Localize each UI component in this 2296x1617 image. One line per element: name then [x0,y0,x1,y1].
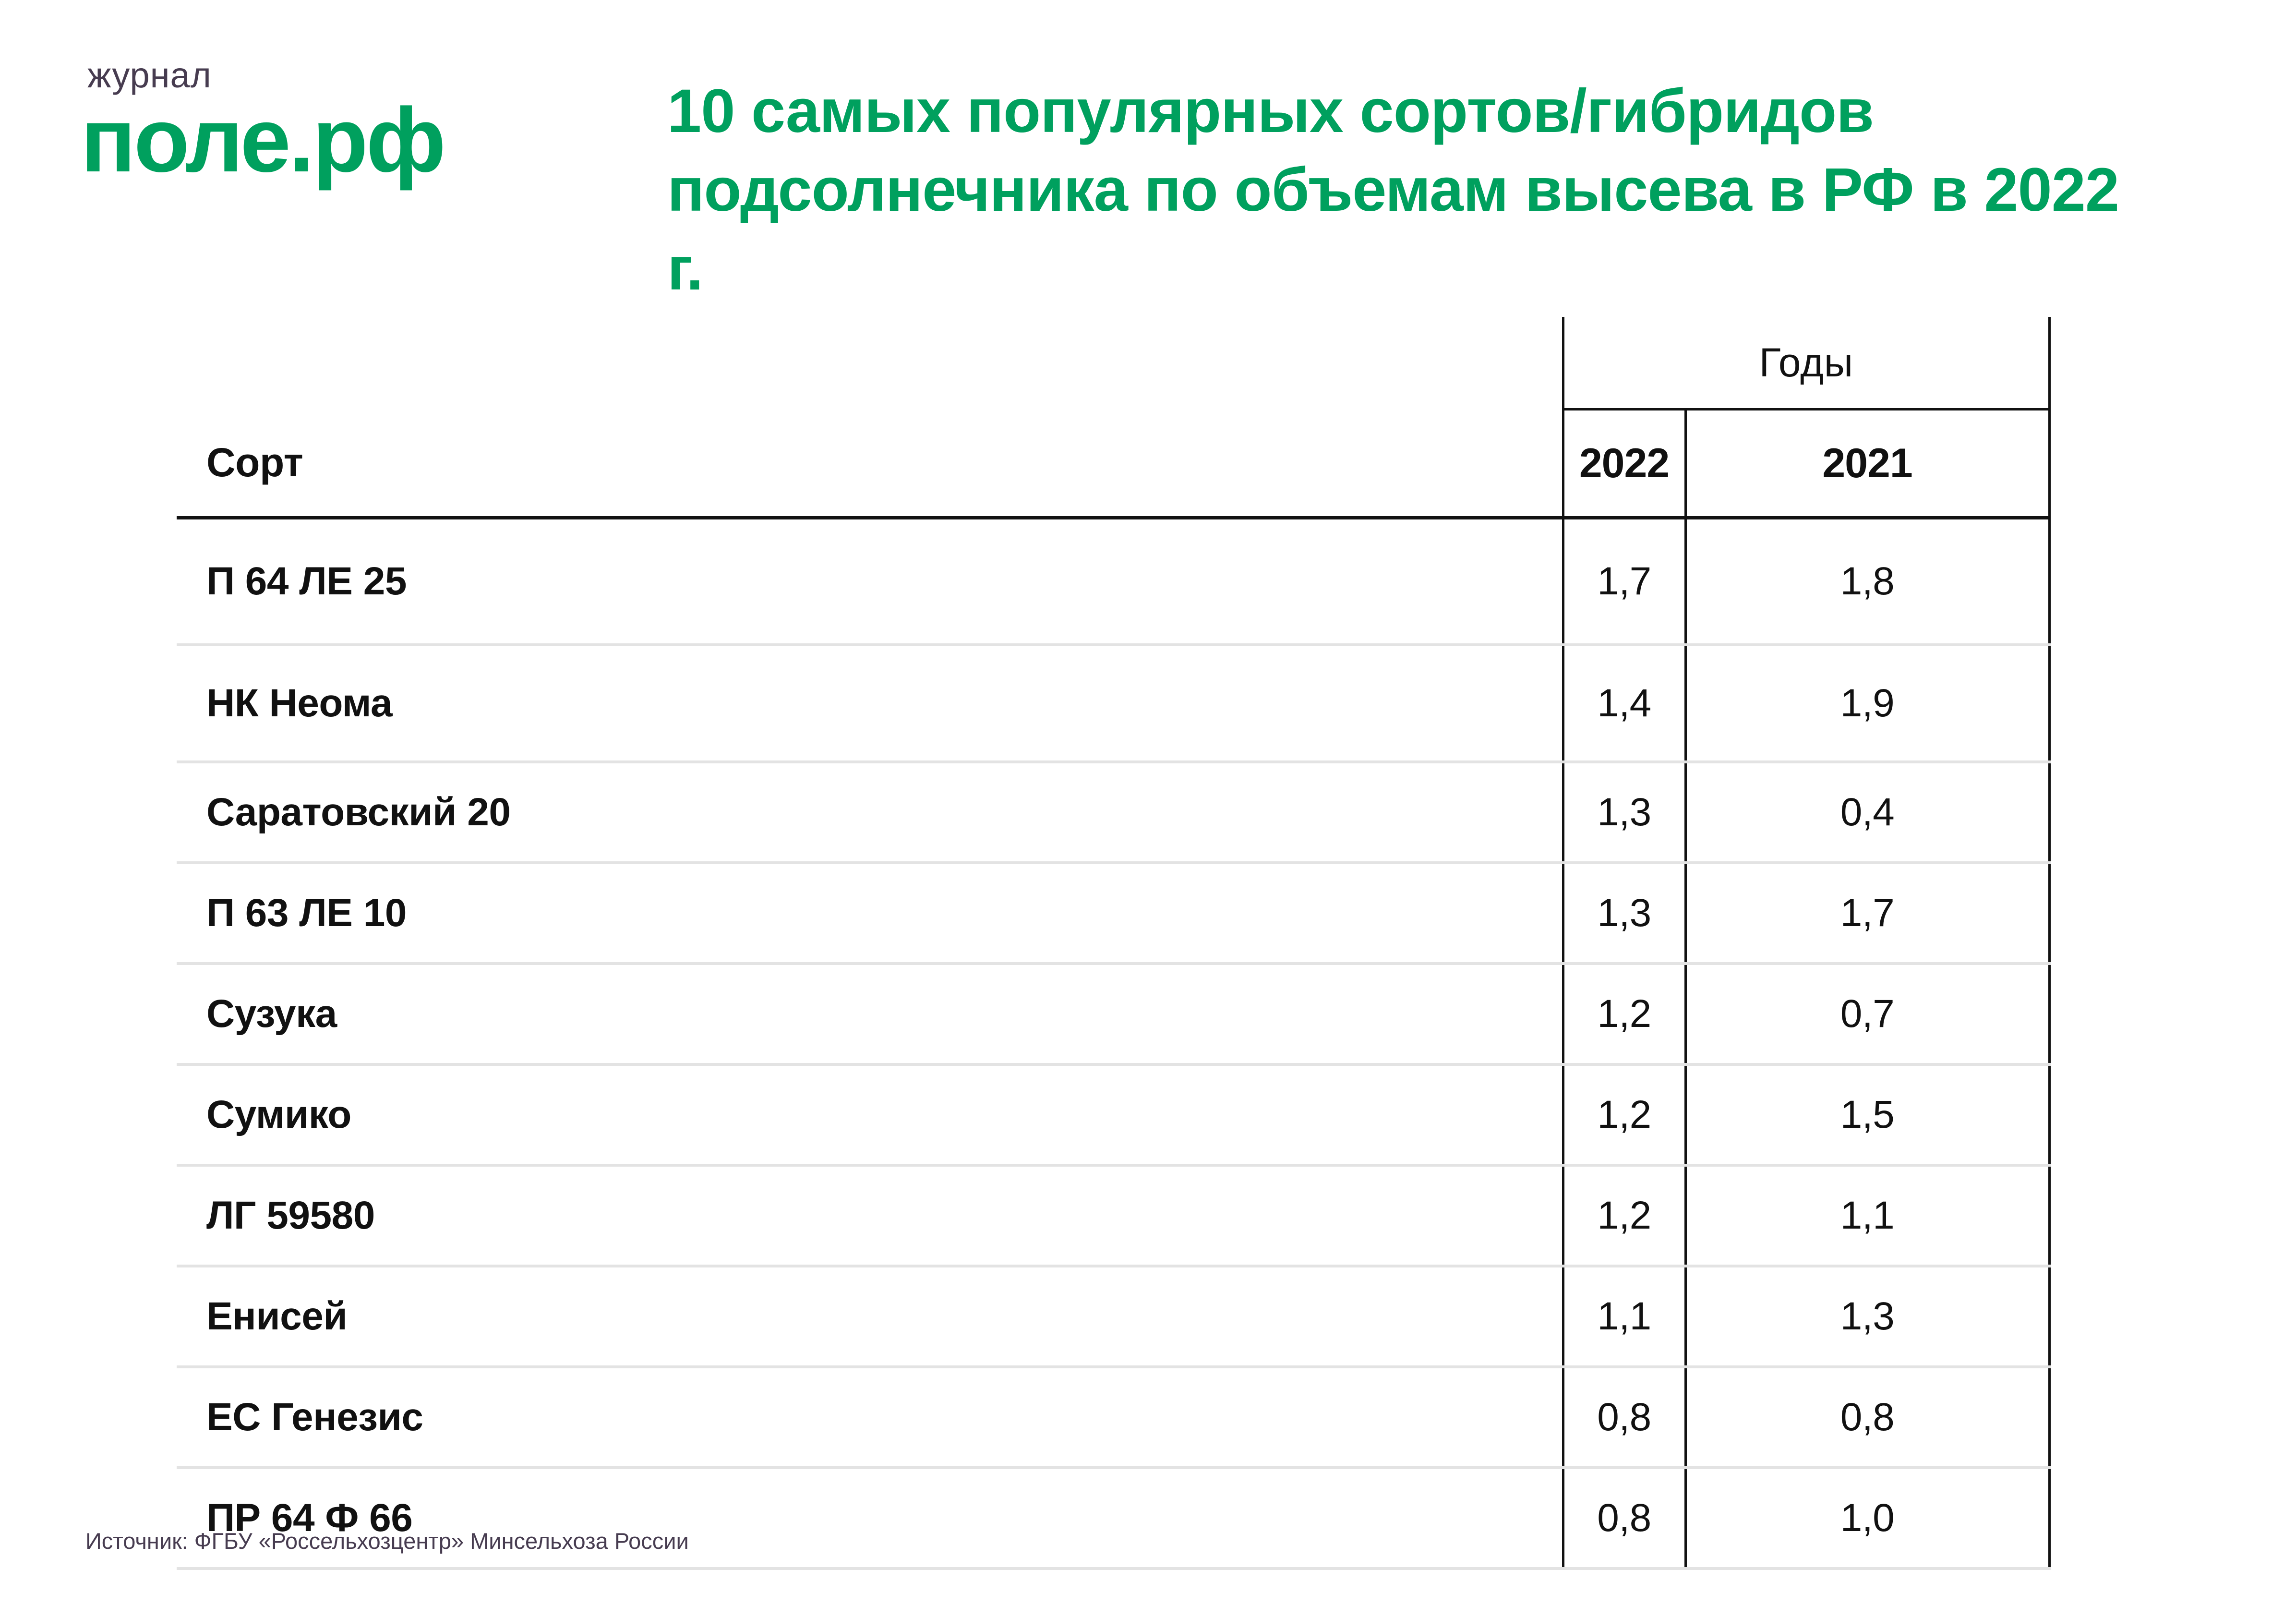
cell-value-2022: 0,8 [1563,1468,1685,1569]
cell-variety-name: Саратовский 20 [177,762,1563,863]
sunflower-varieties-table: Годы Сорт 2022 2021 П 64 ЛЕ 25 1,7 1,8 Н… [177,317,2051,1570]
table-row: ЕС Генезис 0,8 0,8 [177,1367,2049,1468]
table-header-group-row: Годы [177,317,2049,410]
cell-value-2022: 1,3 [1563,863,1685,964]
cell-value-2022: 1,2 [1563,1064,1685,1165]
cell-variety-name: Енисей [177,1266,1563,1367]
cell-variety-name: П 63 ЛЕ 10 [177,863,1563,964]
table-row: Енисей 1,1 1,3 [177,1266,2049,1367]
cell-value-2022: 1,2 [1563,1165,1685,1266]
cell-variety-name: ЛГ 59580 [177,1165,1563,1266]
column-header-2022: 2022 [1563,410,1685,518]
cell-variety-name: НК Неома [177,645,1563,762]
cell-value-2021: 0,4 [1685,762,2049,863]
cell-value-2022: 1,1 [1563,1266,1685,1367]
cell-value-2021: 0,8 [1685,1367,2049,1468]
table-row: П 63 ЛЕ 10 1,3 1,7 [177,863,2049,964]
cell-value-2021: 1,0 [1685,1468,2049,1569]
cell-value-2021: 1,9 [1685,645,2049,762]
cell-variety-name: Сумико [177,1064,1563,1165]
cell-value-2022: 1,3 [1563,762,1685,863]
cell-value-2021: 1,1 [1685,1165,2049,1266]
table-header-row: Сорт 2022 2021 [177,410,2049,518]
cell-value-2022: 1,7 [1563,518,1685,645]
table-row: НК Неома 1,4 1,9 [177,645,2049,762]
table-body: П 64 ЛЕ 25 1,7 1,8 НК Неома 1,4 1,9 Сара… [177,518,2049,1569]
table-row: Сузука 1,2 0,7 [177,964,2049,1064]
cell-variety-name: ЕС Генезис [177,1367,1563,1468]
cell-value-2021: 1,3 [1685,1266,2049,1367]
cell-value-2021: 0,7 [1685,964,2049,1064]
column-header-sort: Сорт [177,410,1563,518]
table-row: Саратовский 20 1,3 0,4 [177,762,2049,863]
cell-value-2022: 1,4 [1563,645,1685,762]
cell-variety-name: Сузука [177,964,1563,1064]
cell-value-2021: 1,8 [1685,518,2049,645]
years-group-header: Годы [1563,317,2049,410]
cell-value-2022: 1,2 [1563,964,1685,1064]
table-row: Сумико 1,2 1,5 [177,1064,2049,1165]
cell-variety-name: П 64 ЛЕ 25 [177,518,1563,645]
column-header-2021: 2021 [1685,410,2049,518]
table-row: ЛГ 59580 1,2 1,1 [177,1165,2049,1266]
cell-value-2021: 1,7 [1685,863,2049,964]
brand-wordmark: поле.рф [81,94,561,187]
data-table-container: Годы Сорт 2022 2021 П 64 ЛЕ 25 1,7 1,8 Н… [177,317,2050,1570]
page-title: 10 самых популярных сортов/гибридов подс… [667,72,2165,308]
source-note: Источник: ФГБУ «Россельхозцентр» Минсель… [85,1528,689,1554]
brand-logo: журнал поле.рф [81,58,561,187]
table-row: П 64 ЛЕ 25 1,7 1,8 [177,518,2049,645]
header-spacer [177,317,1563,410]
brand-kicker: журнал [87,58,561,93]
cell-value-2022: 0,8 [1563,1367,1685,1468]
table-head: Годы Сорт 2022 2021 [177,317,2049,518]
cell-value-2021: 1,5 [1685,1064,2049,1165]
